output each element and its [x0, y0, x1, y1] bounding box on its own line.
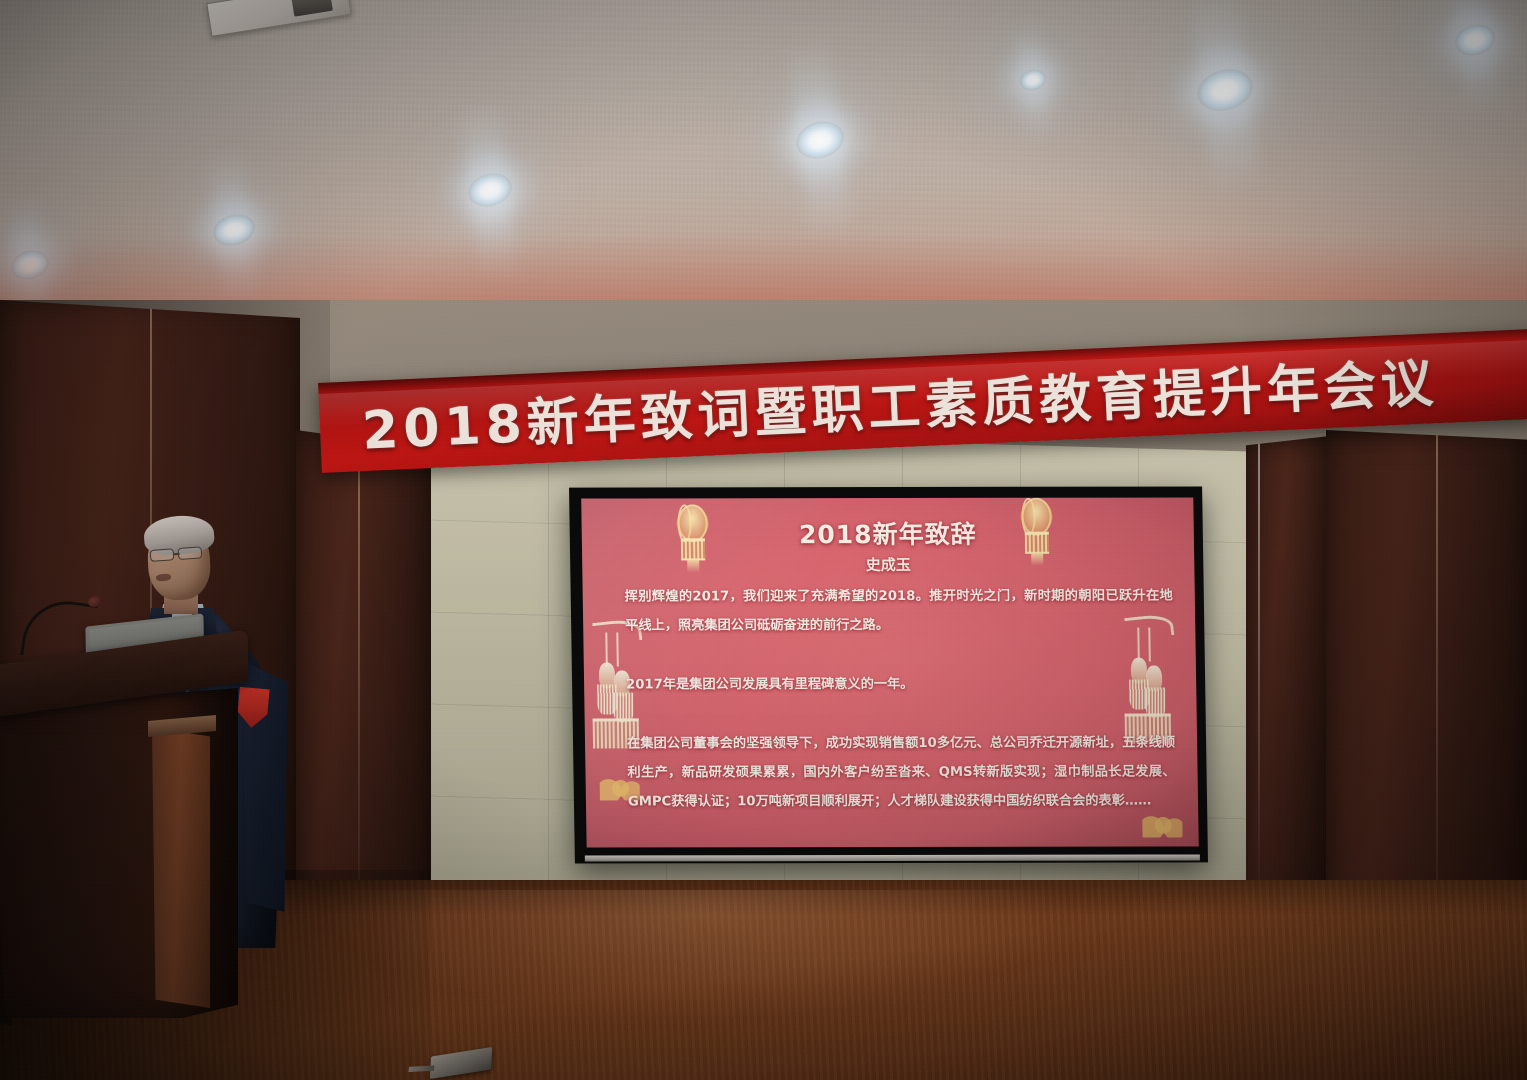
slide-author: 史成玉: [582, 553, 1194, 575]
slide-paragraph-1: 挥别辉煌的2017，我们迎来了充满希望的2018。推开时光之门，新时期的朝阳已跃…: [625, 582, 1174, 641]
screen-bottom-rail: [585, 854, 1200, 861]
podium: [0, 648, 254, 1028]
ceiling: [0, 0, 1527, 340]
slide-paragraph-3: 在集团公司董事会的坚强领导下，成功实现销售额10多亿元、总公司乔迁开源新址，五条…: [627, 728, 1176, 816]
ceiling-light-2: [755, 55, 885, 225]
podium-center-stripe: [152, 728, 210, 1008]
slide-paragraph-2: 2017年是集团公司发展具有里程碑意义的一年。: [626, 670, 1175, 700]
projection-screen: 2018新年致辞 史成玉 挥别辉煌的2017，我们迎来了充满希望的2018。推开…: [569, 486, 1208, 863]
ceiling-light-1: [1155, 0, 1295, 180]
ceiling-light-6: [1420, 0, 1527, 110]
wood-panel-left-inner: [296, 430, 431, 900]
wood-panel-right-inner: [1246, 436, 1330, 902]
slide-surface: 2018新年致辞 史成玉 挥别辉煌的2017，我们迎来了充满希望的2018。推开…: [581, 497, 1199, 847]
slide-body: 挥别辉煌的2017，我们迎来了充满希望的2018。推开时光之门，新时期的朝阳已跃…: [625, 582, 1177, 833]
ceiling-light-7: [985, 20, 1081, 140]
wood-panel-right-outer: [1326, 430, 1527, 910]
conference-hall-photo: 2018新年致词暨职工素质教育提升年会议: [0, 0, 1527, 1080]
slide-title: 2018新年致辞: [581, 514, 1194, 551]
